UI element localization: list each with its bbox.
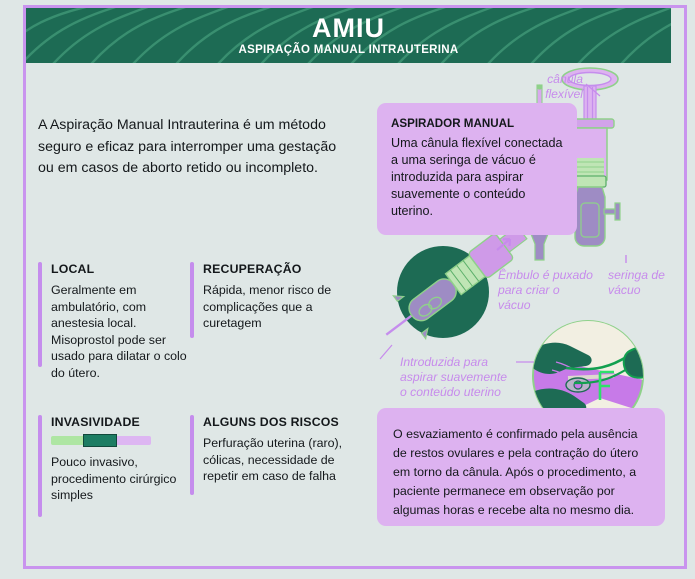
fact-title-recuperacao: RECUPERAÇÃO [203, 262, 355, 276]
annotation-embulo: Êmbulo é puxado para criar o vácuo [498, 268, 593, 313]
annotation-seringa-vacuo: seringa de vácuo [608, 268, 688, 298]
introduzida-pointer [380, 345, 392, 359]
fact-text-local: Geralmente em ambulatório, com anestesia… [51, 282, 188, 381]
fact-text-invasividade: Pouco invasivo, procedimento cirúrgico s… [51, 454, 198, 504]
gauge-segment-high [117, 436, 151, 445]
card-final-summary: O esvaziamento é confirmado pela ausênci… [377, 408, 665, 526]
card-title-aspirador: ASPIRADOR MANUAL [391, 117, 564, 130]
intro-paragraph: A Aspiração Manual Intrauterina é um mét… [38, 115, 338, 180]
gauge-segment-low [51, 436, 83, 445]
gauge-segment-selected [83, 434, 117, 447]
card-text-final: O esvaziamento é confirmado pela ausênci… [393, 425, 649, 520]
fact-text-riscos: Perfuração uterina (raro), cólicas, nece… [203, 435, 360, 485]
card-text-aspirador: Uma cânula flexível conectada a uma seri… [391, 135, 564, 220]
infographic-page: AMIU ASPIRAÇÃO MANUAL INTRAUTERINA [0, 0, 695, 579]
fact-card-riscos: ALGUNS DOS RISCOS Perfuração uterina (ra… [190, 415, 360, 495]
fact-text-recuperacao: Rápida, menor risco de complicações que … [203, 282, 355, 332]
fact-title-invasividade: INVASIVIDADE [51, 415, 198, 429]
invasiveness-gauge [51, 435, 151, 446]
card-aspirador-manual: ASPIRADOR MANUAL Uma cânula flexível con… [377, 103, 577, 235]
fact-card-invasividade: INVASIVIDADE Pouco invasivo, procediment… [38, 415, 198, 517]
fact-card-recuperacao: RECUPERAÇÃO Rápida, menor risco de compl… [190, 262, 355, 338]
fact-title-local: LOCAL [51, 262, 188, 276]
page-subtitle: ASPIRAÇÃO MANUAL INTRAUTERINA [239, 44, 459, 56]
annotation-introduzida: Introduzida para aspirar suavemente o co… [400, 355, 515, 400]
fact-card-local: LOCAL Geralmente em ambulatório, com ane… [38, 262, 188, 367]
fact-title-riscos: ALGUNS DOS RISCOS [203, 415, 360, 429]
page-title: AMIU [312, 15, 385, 42]
annotation-canula-flexivel: cânula flexível [508, 72, 583, 102]
header-banner: AMIU ASPIRAÇÃO MANUAL INTRAUTERINA [26, 8, 671, 63]
cannula-leader-line [586, 84, 600, 96]
plunger-arrow-icon [497, 239, 510, 250]
